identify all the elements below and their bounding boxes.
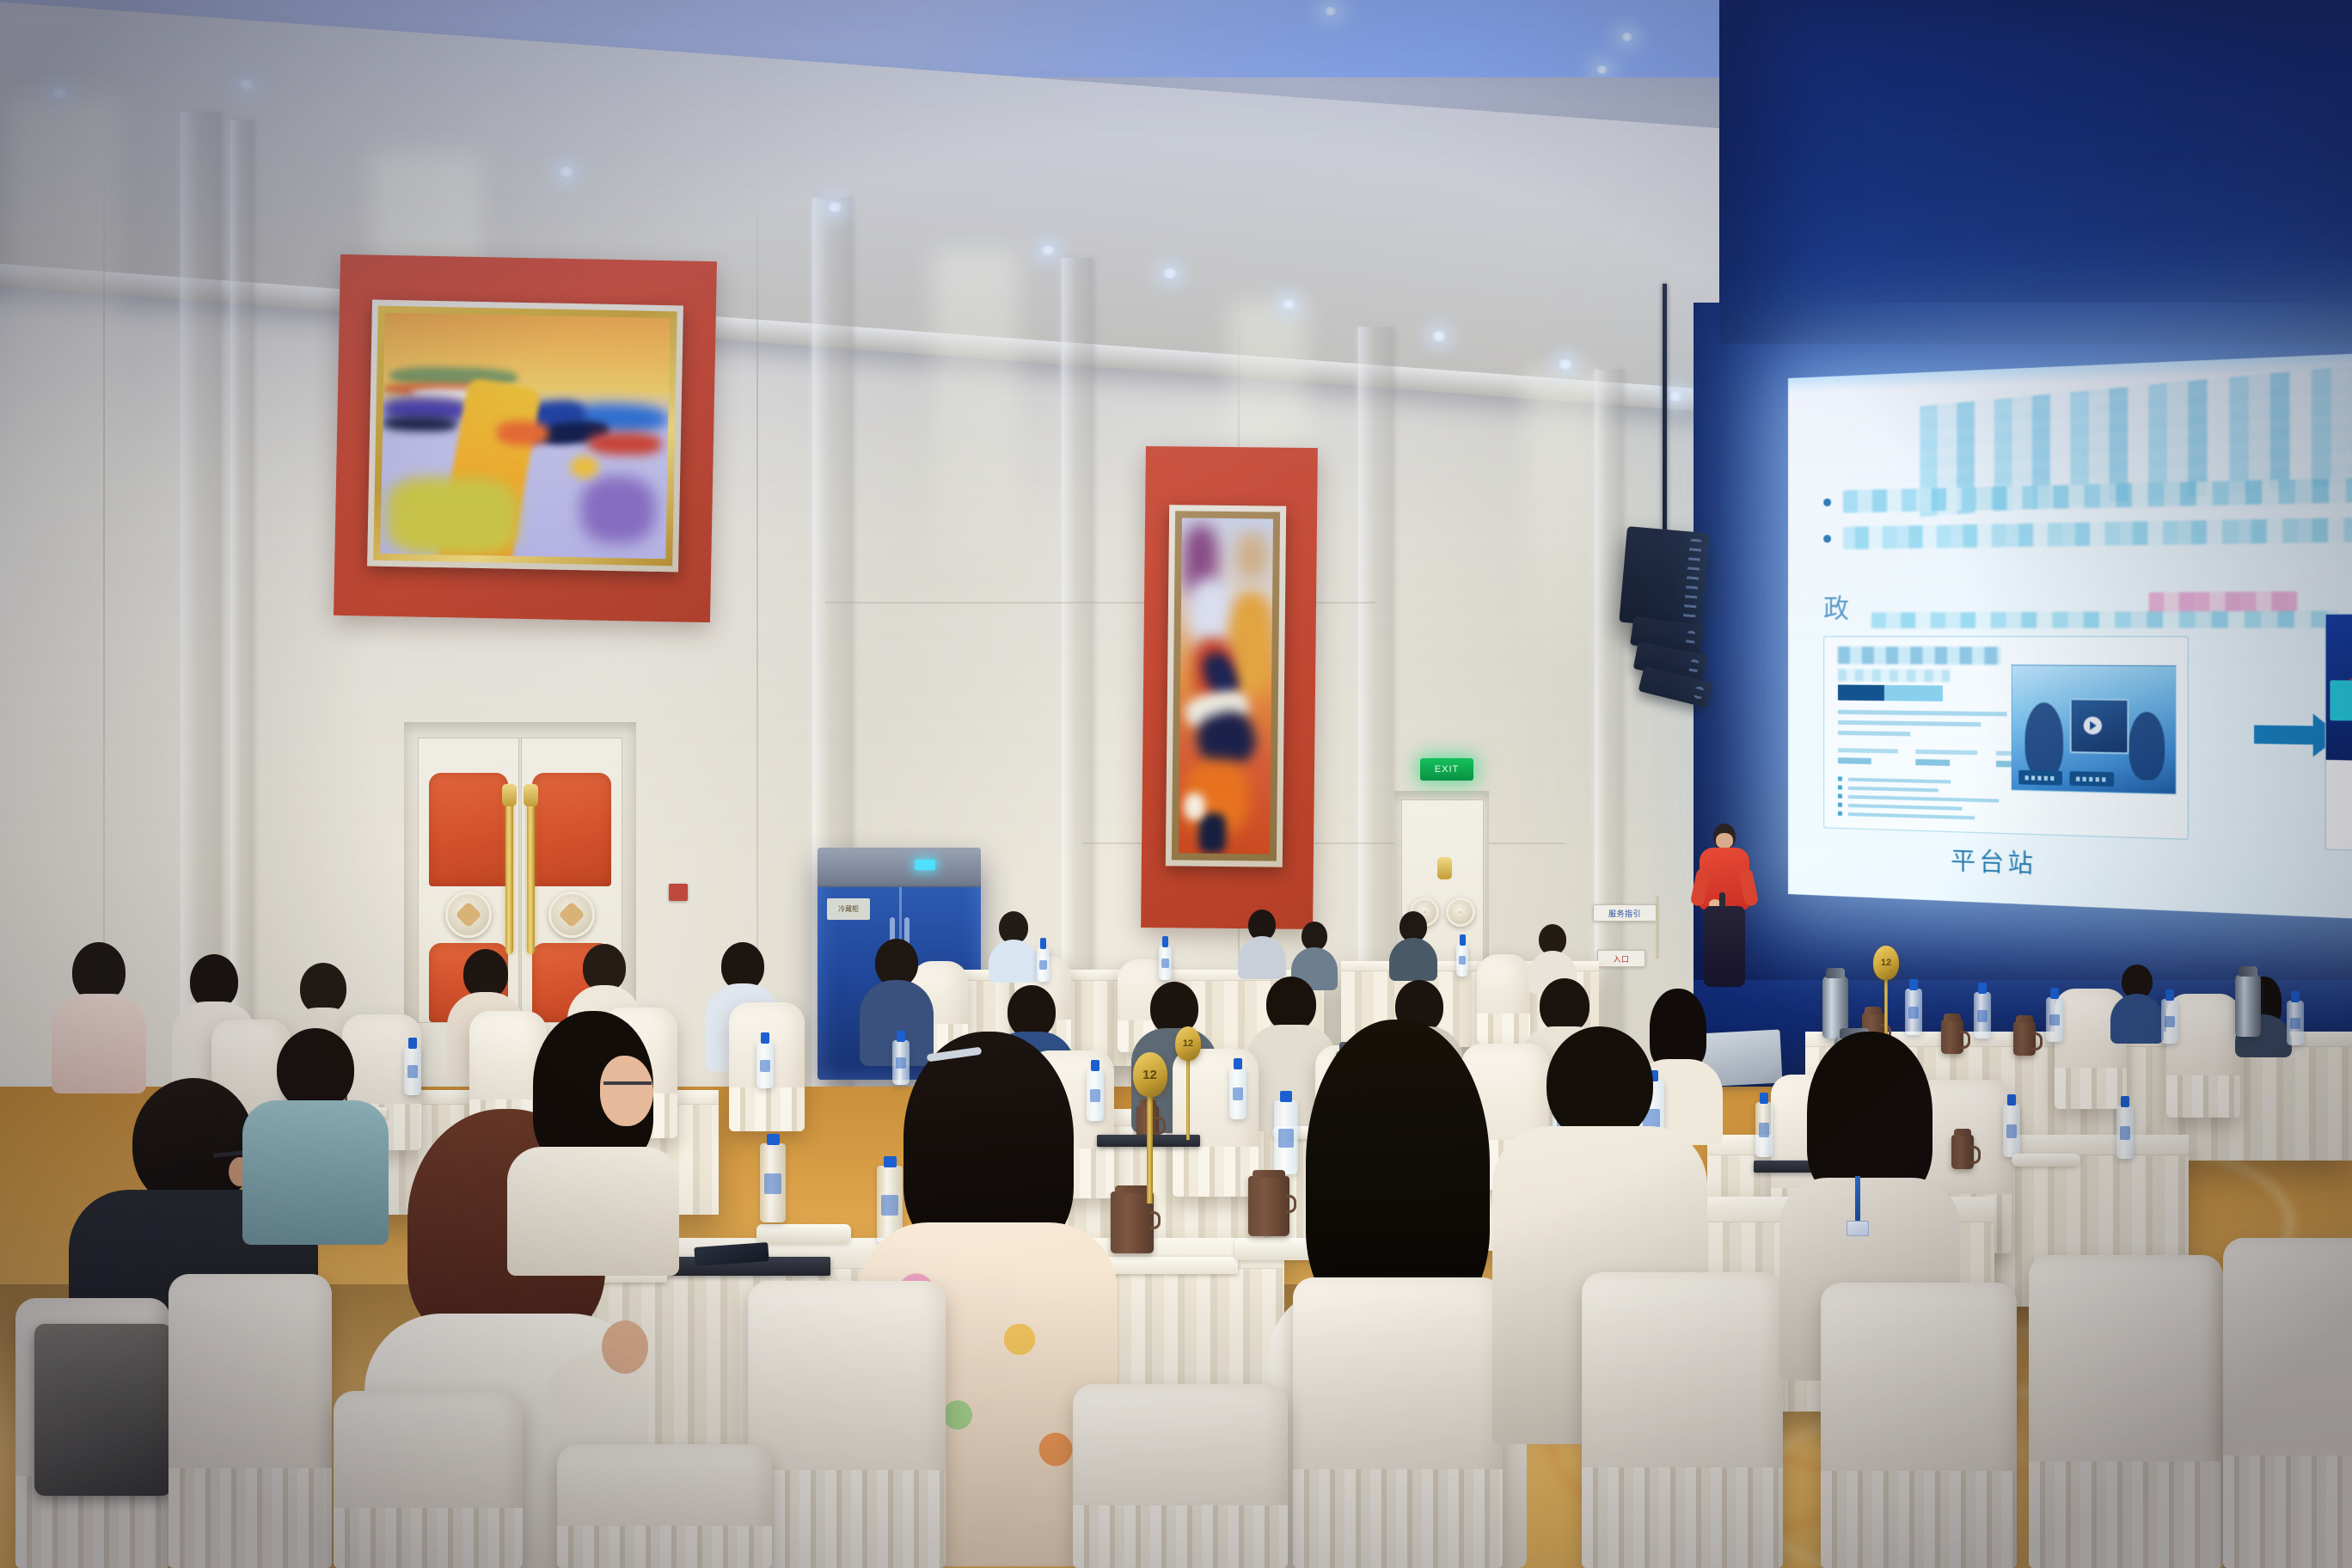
banquet-chair[interactable] <box>2029 1255 2223 1568</box>
attendee <box>2110 965 2164 1042</box>
attendee-head <box>1547 1026 1653 1142</box>
cooler-label: 冷藏柜 <box>827 898 869 919</box>
speaker-grille <box>1694 686 1705 700</box>
attendee-head <box>300 963 346 1014</box>
door-medallion <box>548 891 595 938</box>
attendee-body <box>1389 938 1437 981</box>
photo-buttons <box>2018 770 2114 787</box>
water-bottle <box>1229 1068 1246 1119</box>
cooler-header <box>818 848 981 887</box>
projection-screen: 政 <box>1788 350 2352 922</box>
table-number-stand: 12 <box>1884 975 1888 1040</box>
wall-pilaster <box>230 120 253 1100</box>
wall-downlight <box>52 88 67 98</box>
wall-conduit <box>1656 897 1659 959</box>
slide-highlight-redacted <box>2149 591 2298 613</box>
phone-mockup <box>2325 613 2352 853</box>
water-bottle <box>760 1143 786 1222</box>
attendee <box>1389 911 1437 980</box>
banquet-chair[interactable] <box>1073 1384 1288 1568</box>
wall-light-wash <box>1526 370 1603 679</box>
attendee-body <box>989 940 1038 983</box>
slide-surface: 政 <box>1788 350 2352 922</box>
banquet-chair[interactable] <box>557 1444 772 1568</box>
line-array-speaker <box>1619 526 1709 629</box>
card-feature-item <box>1838 786 2037 795</box>
ceiling-downlight <box>1596 65 1608 74</box>
exit-sign-label: EXIT <box>1435 764 1459 775</box>
water-bottle <box>1755 1102 1773 1157</box>
door-panel <box>429 773 509 886</box>
card-feature-item <box>1838 812 2037 822</box>
speaker-grille <box>1683 538 1702 622</box>
attendee-body <box>2110 994 2164 1044</box>
slide-content-card <box>1823 636 2189 840</box>
card-body-lines <box>1838 709 2023 744</box>
water-bottle <box>1037 947 1050 982</box>
photo-button[interactable] <box>2018 770 2062 786</box>
wall-downlight <box>559 167 574 177</box>
banquet-chair[interactable] <box>168 1274 332 1568</box>
banquet-chair[interactable] <box>1821 1283 2017 1568</box>
door-panel <box>532 773 612 886</box>
folded-towel <box>756 1224 851 1243</box>
slide-section-title: 政 <box>1823 586 1851 625</box>
abstract-vertical-painting <box>1179 518 1273 854</box>
presenter <box>1695 824 1754 987</box>
clay-teacup <box>2013 1021 2036 1056</box>
card-stat <box>1838 748 1898 765</box>
banquet-chair[interactable] <box>1293 1277 1503 1568</box>
slide-bullet-item <box>1823 517 2352 550</box>
backpack <box>34 1324 172 1496</box>
attendee-hair <box>1306 1020 1490 1320</box>
wall-downlight <box>1281 299 1296 309</box>
card-feature-item <box>1838 803 2037 813</box>
speaker-grille <box>1688 659 1700 675</box>
bullet-dot-icon <box>1823 499 1831 506</box>
painting-gold-frame <box>373 306 677 567</box>
presenter-trousers <box>1704 906 1745 987</box>
wall-pilaster <box>181 112 220 1100</box>
attendee-hand <box>602 1320 648 1374</box>
water-bottle <box>1974 992 1991 1038</box>
card-subtitle-redacted <box>1838 670 1950 682</box>
wall-light-wash <box>933 249 1019 593</box>
wall-outlet-plate <box>669 884 688 901</box>
folded-towel <box>2012 1154 2080 1167</box>
card-feature-list <box>1838 777 2037 827</box>
water-bottle <box>756 1042 774 1088</box>
presenter-face <box>1716 833 1733 848</box>
attendee-face <box>600 1056 653 1126</box>
wall-sign-label: 服务指引 <box>1608 908 1641 919</box>
banquet-chair[interactable] <box>1582 1272 1783 1568</box>
stage-backdrop-upper <box>1719 0 2352 344</box>
banquet-chair[interactable] <box>748 1281 946 1568</box>
water-bottle <box>2046 997 2063 1042</box>
speaker-grille <box>1686 630 1696 646</box>
water-bottle <box>2161 999 2178 1044</box>
wall-downlight <box>1431 331 1447 341</box>
water-bottle <box>2116 1106 2134 1159</box>
table-number-stand: 12 <box>1186 1057 1190 1140</box>
attendee-head <box>1302 922 1327 951</box>
lanyard <box>1855 1176 1860 1224</box>
door-handle[interactable] <box>505 801 513 954</box>
attendee-head <box>277 1028 354 1111</box>
ceiling-downlight <box>1620 33 1633 41</box>
door-medallion <box>1446 897 1475 927</box>
wall-downlight <box>1040 245 1056 255</box>
card-feature-item <box>1838 794 2037 804</box>
speaker-suspension-pole <box>1663 284 1667 557</box>
water-bottle <box>1456 944 1468 977</box>
attendee-head <box>1008 985 1056 1038</box>
card-photo <box>2012 665 2176 794</box>
wall-downlight <box>827 202 842 212</box>
slide-caption: 平台站 <box>1951 842 2037 880</box>
attendee-body <box>507 1147 679 1276</box>
name-badge <box>1847 1221 1869 1236</box>
table-number-plate: 12 <box>1873 946 1899 980</box>
photo-button[interactable] <box>2070 771 2115 787</box>
wall-downlight <box>239 79 254 89</box>
notice-sign: 入口 <box>1597 950 1645 967</box>
banquet-chair[interactable] <box>2223 1238 2352 1568</box>
abstract-landscape-painting <box>380 313 670 559</box>
bullet-text-redacted <box>1843 517 2352 549</box>
attendee <box>1238 910 1286 978</box>
wall-downlight <box>1668 391 1683 401</box>
wall-downlight <box>1162 268 1178 279</box>
conference-hall-photo: 冷藏柜 EXIT 服务指引 入口 <box>0 0 2352 1568</box>
exit-sign: EXIT <box>1420 758 1473 781</box>
ceiling-downlight <box>1324 7 1337 15</box>
water-bottle <box>2003 1104 2020 1157</box>
painting-frame-vertical <box>1166 505 1286 867</box>
water-bottle <box>1905 989 1922 1035</box>
attendee <box>989 911 1038 980</box>
wall-downlight <box>1558 359 1573 370</box>
door-handle-top <box>1437 857 1452 879</box>
attendee-glasses-icon <box>603 1081 652 1085</box>
attendee-woman-glasses <box>507 1011 679 1269</box>
wall-sign: 服务指引 <box>1593 904 1657 922</box>
attendee <box>52 942 146 1088</box>
table-number-stand: 12 <box>1147 1092 1153 1204</box>
water-bottle <box>2287 1001 2304 1045</box>
banquet-chair[interactable] <box>334 1391 523 1568</box>
water-bottle <box>404 1047 421 1095</box>
photo-person <box>2025 702 2064 778</box>
flow-arrow-icon <box>2254 726 2315 745</box>
phone-badge <box>2330 680 2352 720</box>
wall-light-wash <box>9 95 120 542</box>
thermos-flask <box>2235 975 2261 1037</box>
card-stat <box>1916 749 1978 766</box>
card-badge-redacted <box>1838 684 1943 701</box>
water-bottle <box>1159 946 1172 980</box>
attendee-hair <box>1807 1032 1932 1200</box>
door-medallion <box>445 891 492 938</box>
slide-bullet-list <box>1823 476 2352 563</box>
door-handle-top <box>524 784 538 806</box>
bullet-dot-icon <box>1823 535 1831 542</box>
slide-subtext-redacted <box>1871 611 2339 628</box>
door-handle[interactable] <box>527 801 535 954</box>
table-number-plate: 12 <box>1133 1052 1167 1097</box>
painting-gold-frame <box>1172 511 1280 861</box>
card-feature-item <box>1838 777 2037 787</box>
attendee-hair <box>903 1032 1074 1253</box>
cooler-display <box>915 860 935 870</box>
painting-frame-landscape <box>367 300 683 573</box>
attendee-head <box>1540 978 1589 1033</box>
table-number-plate: 12 <box>1175 1026 1201 1061</box>
door-handle-top <box>502 784 517 806</box>
attendee-body <box>1238 936 1286 979</box>
play-icon <box>2084 717 2103 735</box>
card-title-redacted <box>1838 646 2000 665</box>
photo-person <box>2128 711 2165 780</box>
notice-sign-label: 入口 <box>1613 953 1629 965</box>
